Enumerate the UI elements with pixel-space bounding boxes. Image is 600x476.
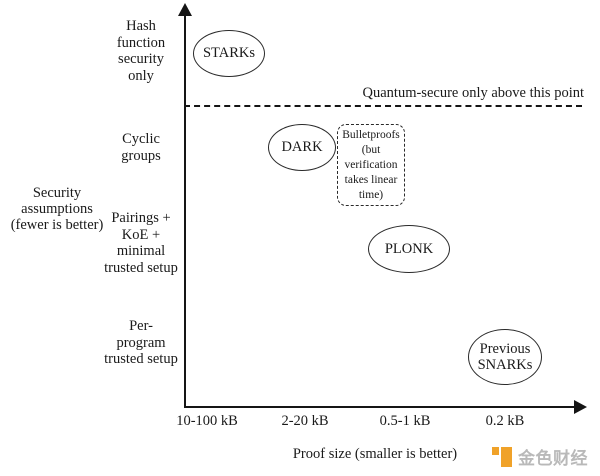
watermark-text: 金色财经 (518, 444, 588, 469)
y-tick-pairings-koe-minimal-trusted-setup: Pairings + KoE + minimal trusted setup (104, 210, 178, 276)
y-axis-title: Security assumptions (fewer is better) (2, 185, 112, 233)
node-previous-snarks[interactable]: Previous SNARKs (468, 329, 542, 385)
x-tick-2-20-kb: 2-20 kB (250, 413, 360, 430)
x-axis-title: Proof size (smaller is better) (260, 446, 490, 463)
chart-canvas: Security assumptions (fewer is better) P… (0, 0, 600, 476)
node-plonk[interactable]: PLONK (368, 225, 450, 273)
y-tick-hash-function-security-only: Hash function security only (104, 18, 178, 84)
y-axis-line (184, 14, 186, 408)
x-tick-0-5-1-kb: 0.5-1 kB (350, 413, 460, 430)
y-tick-per-program-trusted-setup: Per- program trusted setup (104, 318, 178, 368)
quantum-secure-threshold-line (184, 105, 582, 107)
y-tick-cyclic-groups: Cyclic groups (104, 131, 178, 164)
x-tick-10-100-kb: 10-100 kB (152, 413, 262, 430)
quantum-secure-threshold-label: Quantum-secure only above this point (344, 85, 584, 102)
node-starks[interactable]: STARKs (193, 30, 265, 77)
x-axis-line (184, 406, 582, 408)
jinse-logo-icon (492, 447, 512, 467)
x-axis-arrow-icon (574, 400, 587, 414)
y-axis-arrow-icon (178, 3, 192, 16)
node-bulletproofs[interactable]: Bulletproofs (but verification takes lin… (337, 124, 405, 206)
watermark: 金色财经 (492, 444, 588, 469)
x-tick-0-2-kb: 0.2 kB (450, 413, 560, 430)
node-dark[interactable]: DARK (268, 124, 336, 171)
